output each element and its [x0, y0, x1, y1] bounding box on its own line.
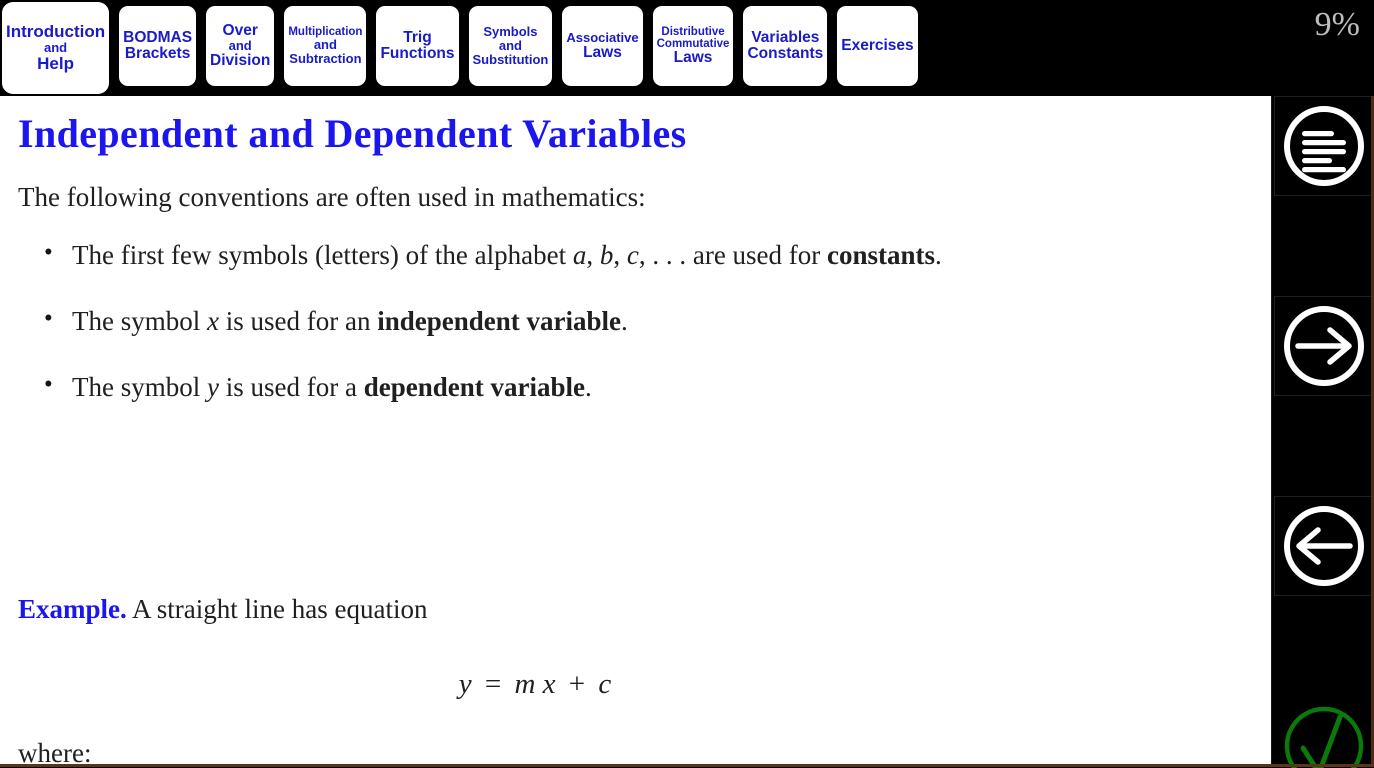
tab-label-line: Laws [674, 50, 713, 66]
equation-lhs: y [459, 668, 472, 700]
equation-term-m: m [514, 668, 535, 700]
tab-label-line: BODMAS [123, 30, 192, 46]
tab-label-line: Exercises [841, 38, 913, 54]
equation-plus: + [563, 668, 591, 700]
tab-label-line: Distributive [661, 26, 724, 38]
tab-label-line: Variables [751, 30, 819, 46]
section-tab-bar: IntroductionandHelpBODMASBracketsOverand… [0, 0, 1374, 96]
bullet-independent-variable: The symbol x is used for an independent … [18, 302, 1018, 341]
tab-label-line: Division [210, 53, 270, 69]
tab-symbols-and-substitution[interactable]: SymbolsandSubstitution [469, 6, 553, 86]
tab-exercises[interactable]: Exercises [837, 6, 917, 86]
example-text: A straight line has equation [132, 594, 427, 624]
navigation-sidebar [1271, 96, 1374, 768]
bullet-constants: The first few symbols (letters) of the a… [18, 236, 1018, 275]
lead-paragraph: The following conventions are often used… [18, 184, 646, 211]
bullet-dependent-variable: The symbol y is used for a dependent var… [18, 368, 1018, 407]
tab-label-line: and [229, 39, 252, 53]
equation-term-c: c [598, 668, 611, 700]
where-label: where: [18, 740, 91, 766]
menu-button[interactable] [1274, 96, 1373, 196]
tab-associative-laws[interactable]: AssociativeLaws [562, 6, 642, 86]
tab-label-line: Constants [747, 46, 823, 62]
arrow-right-icon [1280, 302, 1368, 390]
tab-multiplication-and-subtraction[interactable]: MultiplicationandSubtraction [284, 6, 366, 86]
tab-over-and-division[interactable]: OverandDivision [206, 6, 274, 86]
tab-label-line: Help [37, 55, 74, 73]
check-button[interactable] [1274, 694, 1373, 768]
conventions-bullet-list: The first few symbols (letters) of the a… [18, 236, 1018, 434]
equation-equals: = [479, 668, 507, 700]
tab-label-line: Symbols [483, 25, 537, 39]
tab-label-line: Functions [380, 46, 454, 62]
tab-label-line: Associative [566, 31, 638, 45]
equation-term-x: x [543, 668, 556, 700]
displayed-equation: y = m x + c [0, 668, 1070, 701]
tab-label-line: Laws [583, 45, 622, 61]
progress-percent-label: 9% [1315, 8, 1360, 42]
example-label: Example. [18, 594, 127, 624]
tab-label-line: Over [223, 23, 258, 39]
check-circle-icon [1278, 700, 1370, 768]
tab-variables-constants[interactable]: VariablesConstants [743, 6, 827, 86]
tab-trig-functions[interactable]: TrigFunctions [376, 6, 458, 86]
hamburger-menu-icon [1280, 102, 1368, 190]
back-button[interactable] [1274, 496, 1373, 596]
slide-content-area: Independent and Dependent Variables The … [0, 96, 1271, 766]
tab-introduction-and-help[interactable]: IntroductionandHelp [2, 2, 109, 94]
tab-label-line: Subtraction [289, 52, 361, 66]
tab-label-line: and [499, 39, 522, 53]
tab-label-line: Introduction [6, 23, 105, 41]
forward-button[interactable] [1274, 296, 1373, 396]
tab-label-line: and [44, 41, 67, 55]
example-paragraph: Example. A straight line has equation [18, 596, 427, 623]
presentation-viewer: IntroductionandHelpBODMASBracketsOverand… [0, 0, 1374, 768]
arrow-left-icon [1280, 502, 1368, 590]
page-title: Independent and Dependent Variables [18, 110, 687, 157]
tab-label-line: Trig [403, 30, 431, 46]
tab-distributive-commutative-laws[interactable]: DistributiveCommutativeLaws [653, 6, 734, 86]
tab-label-line: and [314, 38, 337, 52]
tab-label-line: Substitution [473, 53, 549, 67]
tab-bodmas-brackets[interactable]: BODMASBrackets [119, 6, 196, 86]
bottom-rule [0, 764, 1374, 767]
tab-label-line: Brackets [125, 46, 191, 62]
